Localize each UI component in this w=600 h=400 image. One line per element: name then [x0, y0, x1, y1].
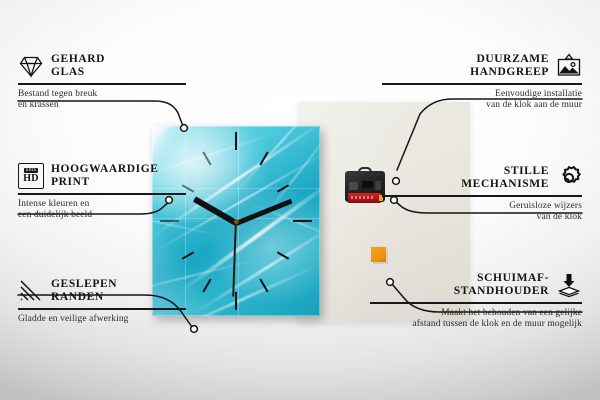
feature-schuimafstandhouder[interactable]: SCHUIMAF- STANDHOUDER Maakt het behouden…: [370, 272, 582, 330]
feature-gehard-glas[interactable]: GEHARD GLAS Bestand tegen breuk en krass…: [18, 53, 186, 111]
feature-hoogwaardige-print[interactable]: ultra HD HOOGWAARDIGE PRINT Intense kleu…: [18, 163, 186, 221]
feature-geslepen-randen[interactable]: GESLEPEN RANDEN Gladde en veilige afwerk…: [18, 278, 186, 325]
feature-title-line1: HOOGWAARDIGE: [51, 163, 159, 176]
infographic-stage: GEHARD GLAS Bestand tegen breuk en krass…: [0, 0, 600, 400]
press-down-pad-icon: [556, 272, 582, 298]
feature-title-line1: SCHUIMAF-: [454, 272, 549, 285]
gear-icon: [556, 165, 582, 191]
feature-title-line2: RANDEN: [51, 291, 117, 304]
feature-title-line1: STILLE: [461, 165, 549, 178]
feature-divider: [18, 193, 186, 195]
feature-description: Gladde en veilige afwerking: [18, 314, 186, 325]
feature-title-line2: PRINT: [51, 176, 159, 189]
feature-description: Intense kleuren en een duidelijk beeld: [18, 199, 186, 221]
feature-description: Maakt het behouden van een gelijke afsta…: [370, 308, 582, 330]
feature-stille-mechanisme[interactable]: STILLE MECHANISME Geruisloze wijzers van…: [382, 165, 582, 223]
feature-description: Eenvoudige installatie van de klok aan d…: [382, 89, 582, 111]
feature-description: Geruisloze wijzers van de klok: [382, 201, 582, 223]
feature-title-line1: DUURZAME: [470, 53, 549, 66]
connector-dot-gehard-glas: [181, 125, 188, 132]
feature-divider: [370, 302, 582, 304]
ultra-hd-icon: ultra HD: [18, 163, 44, 189]
feature-title-line2: STANDHOUDER: [454, 285, 549, 298]
feature-title-line2: MECHANISME: [461, 178, 549, 191]
feature-divider: [382, 195, 582, 197]
feature-description: Bestand tegen breuk en krassen: [18, 89, 186, 111]
feature-divider: [18, 83, 186, 85]
feature-title-line2: GLAS: [51, 66, 105, 79]
feature-divider: [18, 308, 186, 310]
connector-dot-geslepen-randen: [191, 326, 198, 333]
hd-main-label: HD: [23, 174, 39, 184]
hanging-picture-frame-icon: [556, 53, 582, 79]
bevelled-edge-icon: [18, 278, 44, 304]
diamond-icon: [18, 53, 44, 79]
feature-title-line2: HANDGREEP: [470, 66, 549, 79]
feature-duurzame-handgreep[interactable]: DUURZAME HANDGREEP Eenvoudige installati…: [382, 53, 582, 111]
feature-title-line1: GESLEPEN: [51, 278, 117, 291]
feature-title-line1: GEHARD: [51, 53, 105, 66]
feature-divider: [382, 83, 582, 85]
